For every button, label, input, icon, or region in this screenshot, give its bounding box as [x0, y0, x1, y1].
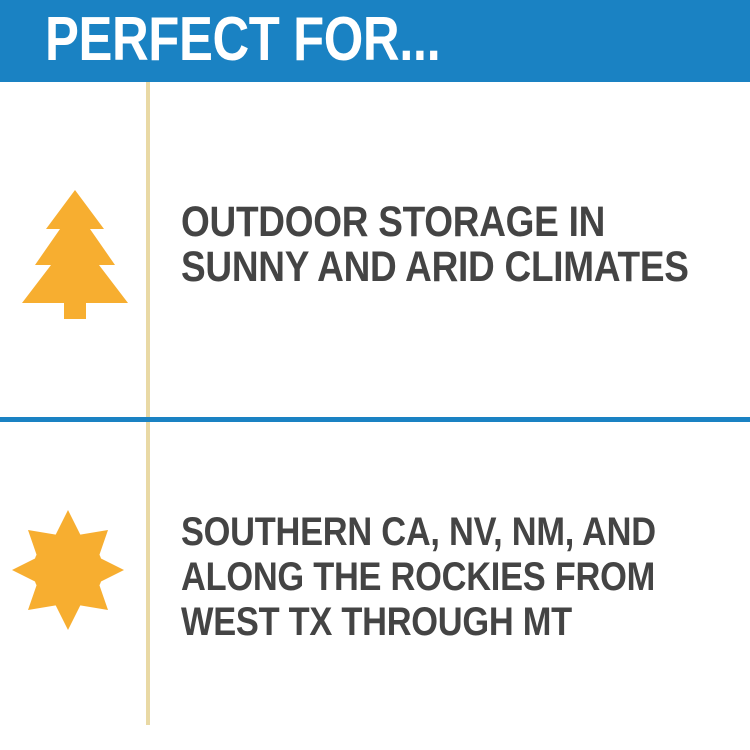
row-icon-cell [0, 422, 146, 750]
sun-icon [12, 510, 124, 630]
page-title: PERFECT FOR... [45, 8, 440, 72]
feature-text-line: WEST TX THROUGH MT [181, 600, 660, 645]
feature-text-line: SUNNY AND ARID CLIMATES [181, 245, 660, 290]
feature-text-outdoor-storage: OUTDOOR STORAGE IN SUNNY AND ARID CLIMAT… [181, 200, 738, 290]
feature-text-regions: SOUTHERN CA, NV, NM, AND ALONG THE ROCKI… [181, 510, 738, 645]
row-icon-cell [0, 82, 146, 417]
feature-row-outdoor-storage: OUTDOOR STORAGE IN SUNNY AND ARID CLIMAT… [0, 82, 750, 417]
feature-text-line: OUTDOOR STORAGE IN [181, 200, 660, 245]
feature-row-regions: SOUTHERN CA, NV, NM, AND ALONG THE ROCKI… [0, 422, 750, 750]
evergreen-tree-icon [20, 188, 130, 320]
feature-text-line: SOUTHERN CA, NV, NM, AND [181, 510, 660, 555]
infographic-panel: PERFECT FOR... OUTDOOR STORAGE IN SUNNY … [0, 0, 750, 750]
header-banner: PERFECT FOR... [0, 0, 750, 82]
feature-text-line: ALONG THE ROCKIES FROM [181, 555, 660, 600]
